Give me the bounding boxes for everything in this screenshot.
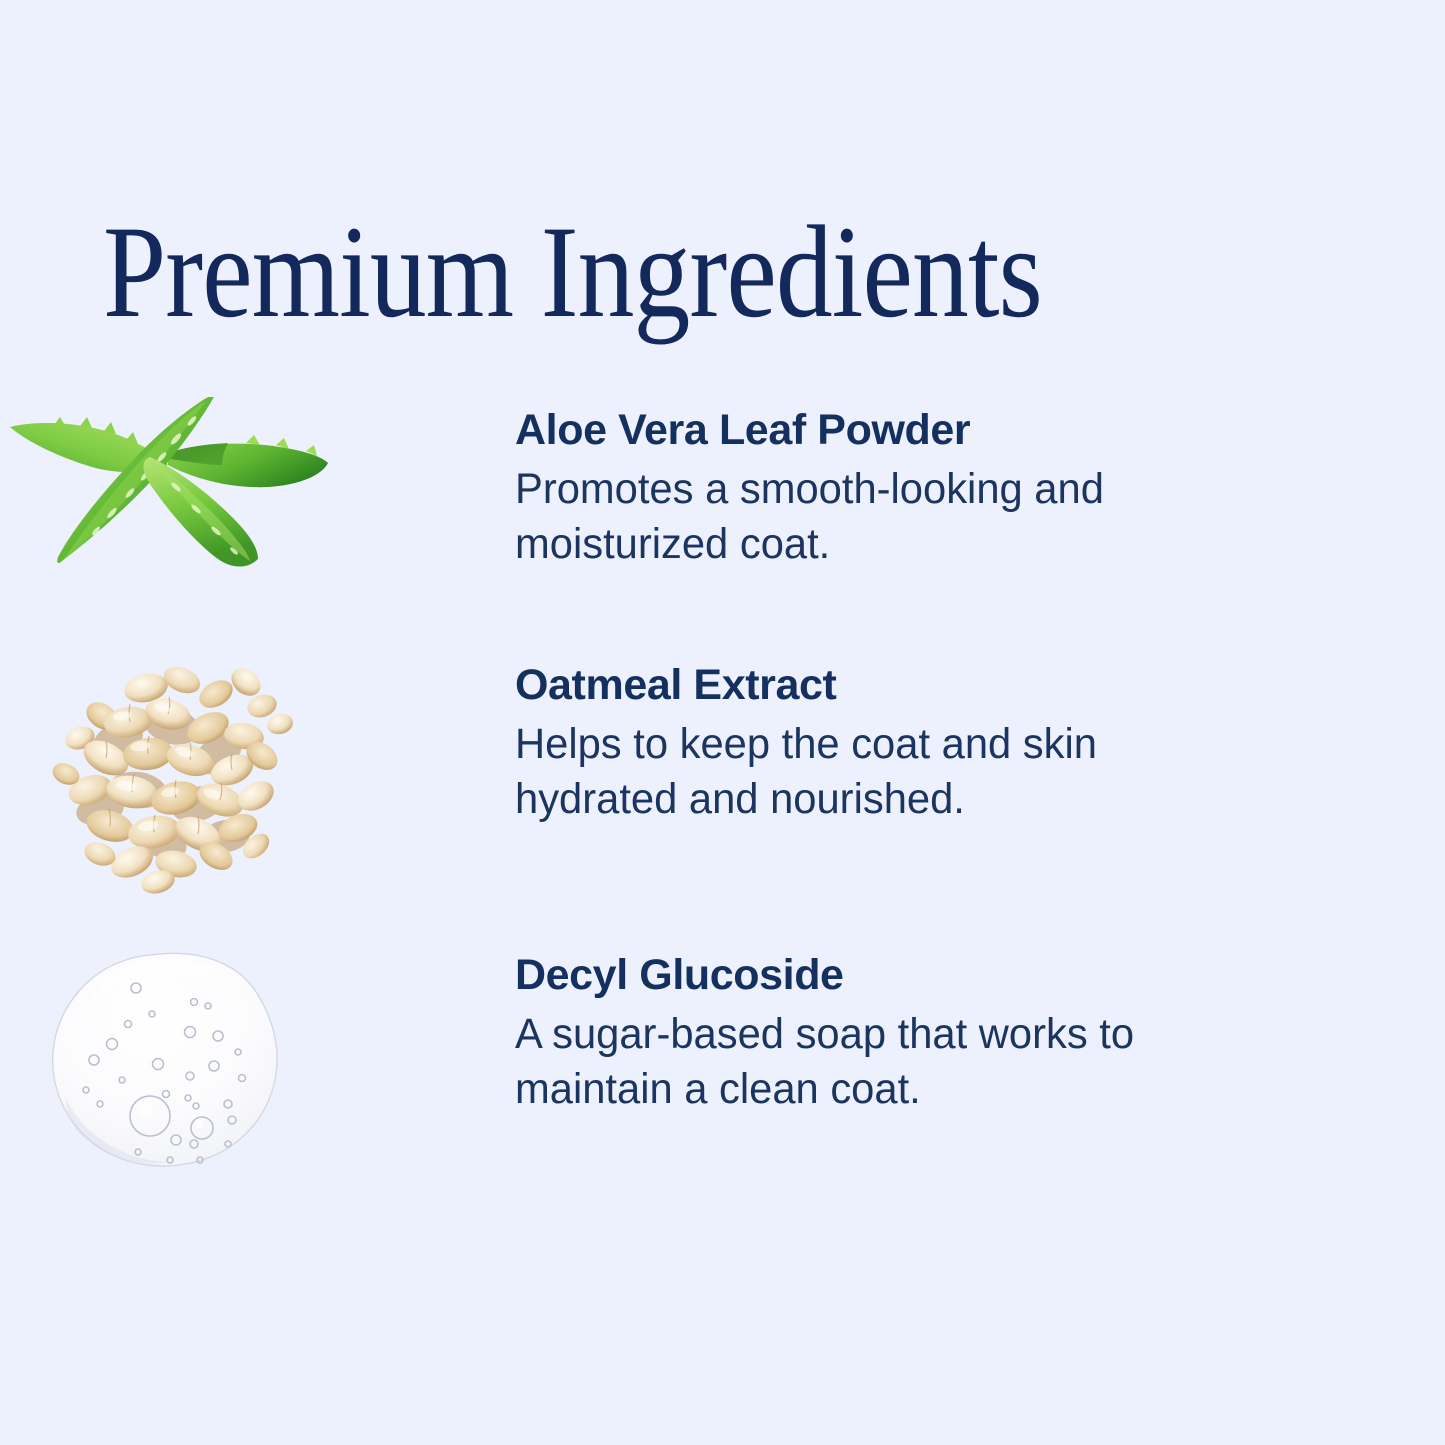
gel-media — [0, 940, 360, 1190]
list-item: Decyl Glucoside A sugar-based soap that … — [0, 940, 1445, 1190]
ingredient-name: Aloe Vera Leaf Powder — [515, 405, 1445, 456]
aloe-copy: Aloe Vera Leaf Powder Promotes a smooth-… — [515, 395, 1445, 572]
oatmeal-copy: Oatmeal Extract Helps to keep the coat a… — [515, 650, 1445, 827]
ingredient-description: Helps to keep the coat and skin hydrated… — [515, 717, 1213, 827]
list-item: Aloe Vera Leaf Powder Promotes a smooth-… — [0, 395, 1445, 625]
ingredient-description: A sugar-based soap that works to maintai… — [515, 1007, 1213, 1117]
gel-copy: Decyl Glucoside A sugar-based soap that … — [515, 940, 1445, 1117]
list-item: Oatmeal Extract Helps to keep the coat a… — [0, 650, 1445, 900]
oatmeal-media — [0, 650, 360, 900]
aloe-media — [0, 395, 360, 625]
ingredient-description: Promotes a smooth-looking and moisturize… — [515, 462, 1213, 572]
oatmeal-flakes-image — [40, 650, 305, 895]
premium-ingredients-page: Premium Ingredients — [0, 0, 1445, 1445]
aloe-vera-leaves-image — [0, 395, 330, 575]
ingredient-name: Oatmeal Extract — [515, 660, 1445, 711]
ingredient-name: Decyl Glucoside — [515, 950, 1445, 1001]
gel-droplet-image — [42, 948, 292, 1178]
ingredient-list: Aloe Vera Leaf Powder Promotes a smooth-… — [0, 0, 1445, 1445]
